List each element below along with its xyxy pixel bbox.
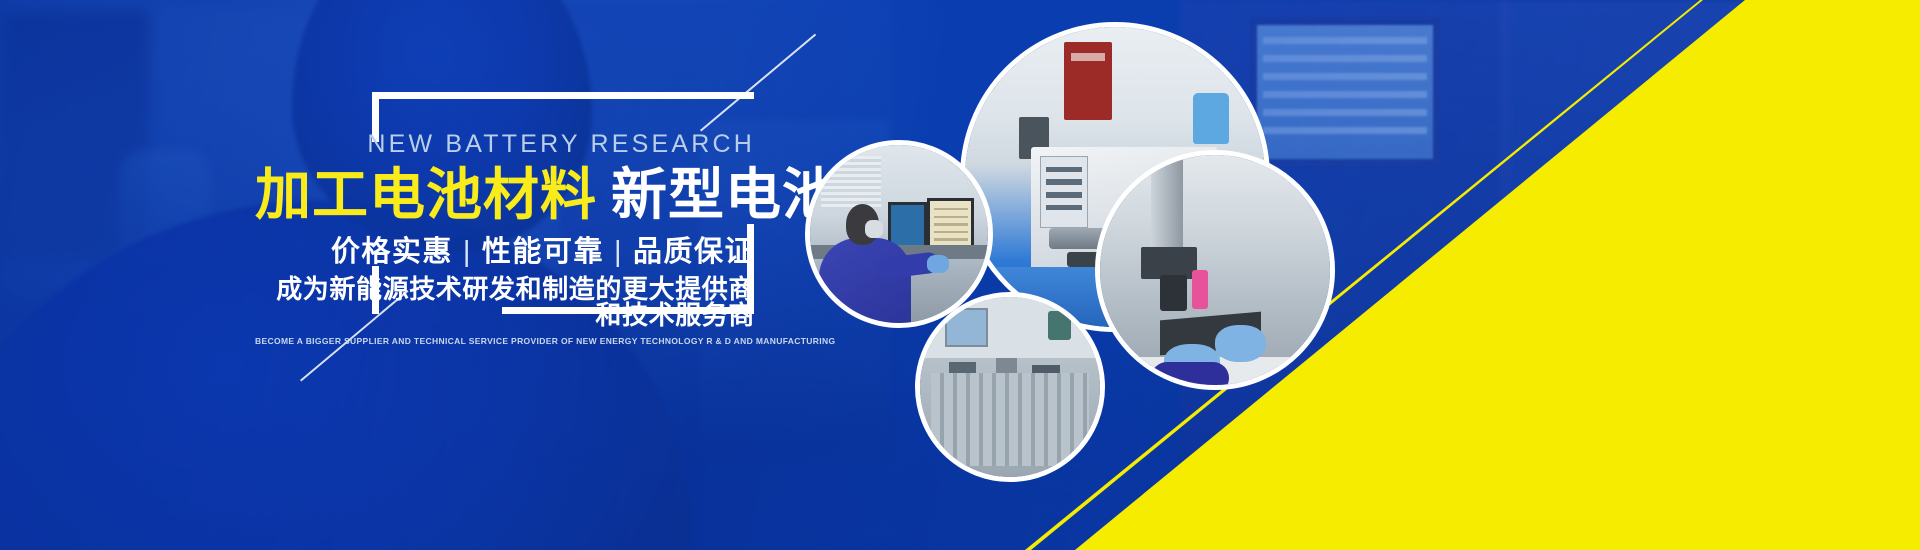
banner-copy-block: NEW BATTERY RESEARCH 加工电池材料新型电池研究 价格实惠|性…	[255, 132, 755, 345]
subtitle-item-2: 性能可靠	[482, 236, 604, 268]
subtitle-item-1: 价格实惠	[331, 236, 453, 268]
banner-kicker: NEW BATTERY RESEARCH	[255, 132, 755, 157]
subtitle-separator-1: |	[463, 236, 472, 268]
photo-press-operation	[1095, 150, 1335, 390]
page-title: 加工电池材料新型电池研究	[255, 165, 755, 225]
frame-top-bar	[372, 92, 754, 99]
banner-english-caption: BECOME A BIGGER SUPPLIER AND TECHNICAL S…	[255, 337, 755, 346]
photo-equipment-racks	[915, 292, 1105, 482]
subtitle-item-3: 品质保证	[633, 236, 755, 268]
photo-cluster	[790, 0, 1430, 550]
banner-subtitle: 价格实惠|性能可靠|品质保证	[255, 238, 755, 267]
banner-tagline: 成为新能源技术研发和制造的更大提供商和技术服务商	[255, 276, 755, 328]
subtitle-separator-2: |	[614, 236, 623, 268]
title-highlight: 加工电池材料	[255, 163, 597, 226]
hero-banner: NEW BATTERY RESEARCH 加工电池材料新型电池研究 价格实惠|性…	[0, 0, 1920, 550]
